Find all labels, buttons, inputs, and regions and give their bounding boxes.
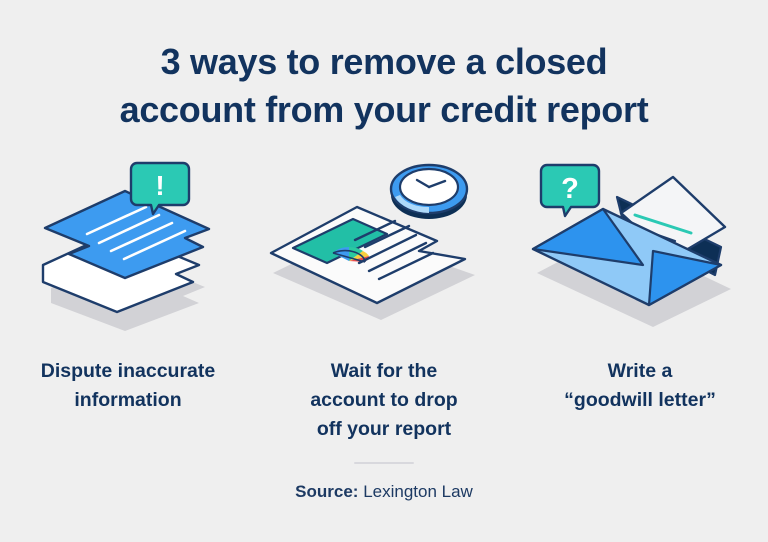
caption-wait: Wait for the account to drop off your re… (279, 357, 489, 444)
title-line-2: account from your credit report (0, 86, 768, 134)
caption-goodwill-line-1: Write a (535, 357, 745, 386)
caption-dispute-line-2: information (23, 386, 233, 415)
clock-icon (391, 165, 467, 219)
method-column-goodwill: ? Write a “goodwill letter” (512, 155, 768, 415)
page-title: 3 ways to remove a closed account from y… (0, 38, 768, 134)
illustration-stacked-documents: ! (13, 155, 243, 335)
question-bubble: ? (541, 165, 599, 216)
methods-columns: ! Dispute inaccurate information (0, 155, 768, 444)
footer-divider (354, 462, 414, 464)
method-column-wait: Wait for the account to drop off your re… (256, 155, 512, 444)
caption-wait-line-3: off your report (279, 415, 489, 444)
caption-wait-line-1: Wait for the (279, 357, 489, 386)
caption-dispute: Dispute inaccurate information (23, 357, 233, 415)
infographic-root: 3 ways to remove a closed account from y… (0, 0, 768, 542)
title-line-1: 3 ways to remove a closed (0, 38, 768, 86)
source-value: Lexington Law (363, 482, 473, 501)
caption-wait-line-2: account to drop (279, 386, 489, 415)
method-column-dispute: ! Dispute inaccurate information (0, 155, 256, 415)
illustration-report-with-clock (269, 155, 499, 335)
alert-bubble-symbol: ! (155, 170, 164, 201)
question-bubble-symbol: ? (561, 173, 579, 205)
footer: Source: Lexington Law (0, 462, 768, 502)
source-label: Source: (295, 482, 358, 501)
caption-dispute-line-1: Dispute inaccurate (23, 357, 233, 386)
source-line: Source: Lexington Law (0, 482, 768, 502)
caption-goodwill: Write a “goodwill letter” (535, 357, 745, 415)
illustration-envelope-with-letter: ? (525, 155, 755, 335)
caption-goodwill-line-2: “goodwill letter” (535, 386, 745, 415)
